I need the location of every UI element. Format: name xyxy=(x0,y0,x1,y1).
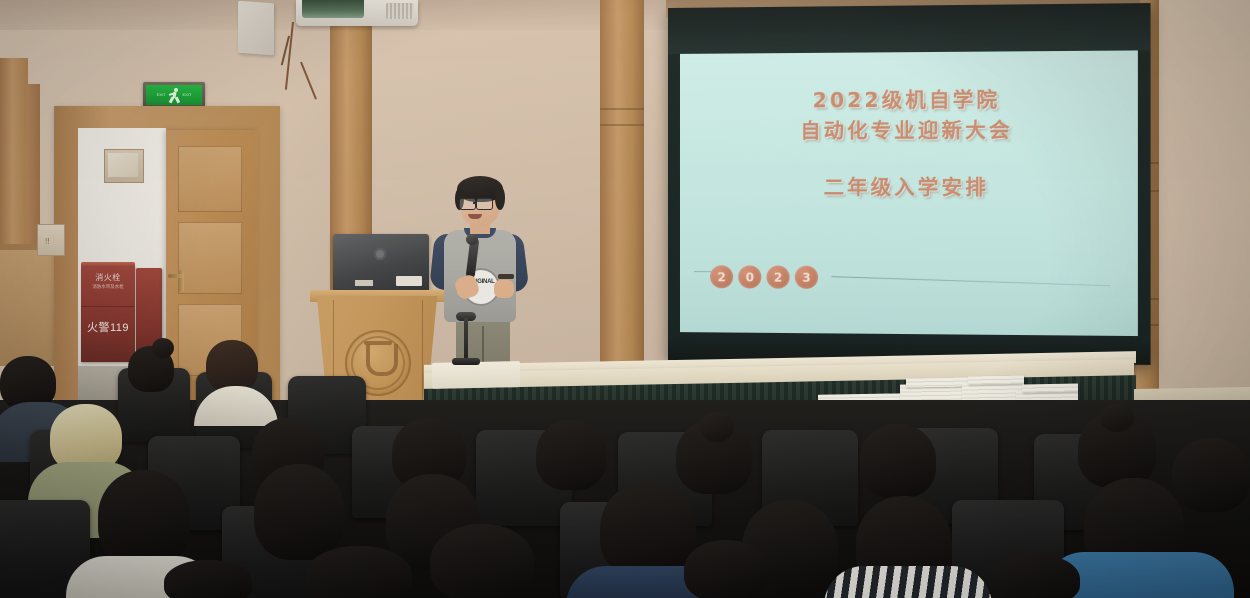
running-man-icon xyxy=(168,88,181,103)
glasses-bridge xyxy=(473,202,477,204)
monitor-sticker-secondary xyxy=(355,280,373,286)
slide-title-line-1: 2022级机自学院 xyxy=(680,85,1138,114)
presenter-wristband xyxy=(498,274,514,279)
year-badge: 2 xyxy=(710,265,733,288)
emblem-u-letter xyxy=(366,344,398,376)
screen-top-mask xyxy=(668,3,1151,54)
fire-cabinet-title: 消火栓 xyxy=(83,274,133,282)
audience-head xyxy=(600,482,696,578)
slide-surface: 2022级机自学院 自动化专业迎新大会 二年级入学安排 2 0 2 3 xyxy=(680,50,1138,336)
table-cloth xyxy=(432,361,520,389)
exit-sign-label-right: EXIT xyxy=(183,93,192,97)
audience-head-foreground xyxy=(430,524,534,598)
lecture-hall-photo: EXIT EXIT 消火栓 消防水带及水枪 火警119 !! 2022级机自学 xyxy=(0,0,1250,598)
fire-cabinet-emergency-number: 火警119 xyxy=(83,323,133,334)
audience-hair-bun xyxy=(1100,404,1134,432)
presenter-hand-right xyxy=(494,280,514,298)
projector-lens xyxy=(302,0,364,18)
audience-head xyxy=(206,340,258,392)
wall-speaker xyxy=(238,1,274,56)
center-pillar-seam-2 xyxy=(600,124,644,126)
exit-sign-label-left: EXIT xyxy=(157,93,166,97)
booklet-stack-top xyxy=(1022,384,1078,393)
year-badge: 0 xyxy=(738,265,761,288)
audience-head xyxy=(860,424,936,498)
microphone-head xyxy=(466,234,478,245)
wall-notice-small: !! xyxy=(37,224,65,256)
slide-year-badges: 2 0 2 3 xyxy=(710,265,818,289)
slide-subtitle: 二年级入学安排 xyxy=(680,174,1138,201)
door-panel-middle xyxy=(178,222,242,294)
audience-head-foreground xyxy=(684,540,768,598)
year-badge: 3 xyxy=(795,266,818,289)
projection-screen: 2022级机自学院 自动化专业迎新大会 二年级入学安排 2 0 2 3 xyxy=(668,3,1151,365)
audience-head-foreground xyxy=(306,546,412,598)
booklet-stack-top xyxy=(968,376,1024,385)
slide-title-line-2: 自动化专业迎新大会 xyxy=(680,116,1138,144)
podium-edge-right xyxy=(422,300,423,412)
audience-shoulders-striped xyxy=(824,566,992,598)
wood-pillar-center xyxy=(600,0,644,384)
door-panel-top xyxy=(178,146,242,212)
fire-cabinet-seam xyxy=(81,306,135,307)
audience-hair-bun xyxy=(700,412,734,442)
audience-head xyxy=(536,420,606,490)
glasses-lens-right xyxy=(476,198,493,210)
presentation-slide: 2022级机自学院 自动化专业迎新大会 二年级入学安排 xyxy=(680,50,1138,336)
monitor-brand-logo-icon xyxy=(374,248,386,260)
projector-vent xyxy=(386,3,414,19)
year-badge: 2 xyxy=(766,265,789,288)
desk-microphone-base xyxy=(452,358,480,365)
center-pillar-seam xyxy=(600,108,644,110)
door-handle[interactable] xyxy=(168,274,184,278)
audience-head-foreground xyxy=(988,554,1080,598)
audience-head xyxy=(98,470,190,566)
audience-head xyxy=(254,464,344,560)
monitor-sticker xyxy=(396,276,422,286)
wall-poster xyxy=(108,153,138,177)
audience-head-foreground xyxy=(164,560,252,598)
audience-hair-bun xyxy=(152,338,174,358)
presenter-hair-right xyxy=(495,186,505,210)
desk-microphone-stem xyxy=(464,318,468,362)
glasses-lens-left xyxy=(459,198,476,210)
fire-cabinet-subtitle: 消防水带及水枪 xyxy=(83,285,133,290)
presenter: ORIGINAL xyxy=(426,176,530,388)
audience-head xyxy=(1172,438,1250,512)
exit-sign: EXIT EXIT xyxy=(146,85,202,105)
